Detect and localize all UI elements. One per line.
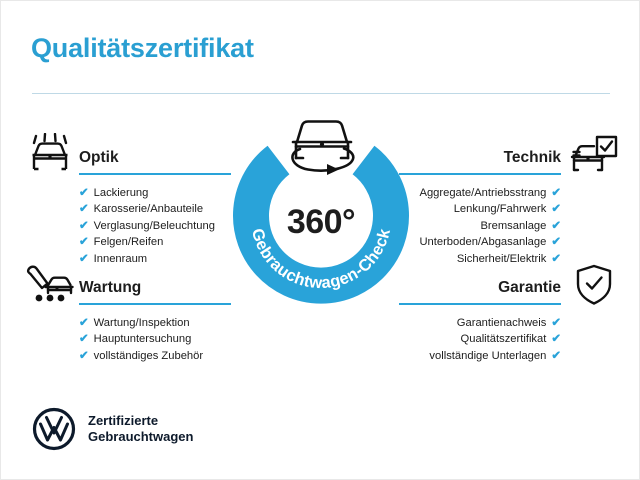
car-shine-icon bbox=[25, 133, 75, 182]
list-item-label: vollständige Unterlagen bbox=[429, 348, 546, 364]
vw-brand-block: Zertifizierte Gebrauchtwagen bbox=[32, 407, 193, 451]
check-icon: ✔ bbox=[79, 234, 89, 250]
list-item-label: Verglasung/Beleuchtung bbox=[94, 218, 215, 234]
car-rotation-icon bbox=[280, 111, 364, 188]
list-item-label: Lenkung/Fahrwerk bbox=[454, 201, 547, 217]
360-badge: Gebrauchtwagen-Check 360 bbox=[222, 119, 420, 317]
check-icon: ✔ bbox=[551, 201, 561, 217]
list-item-label: Bremsanlage bbox=[480, 218, 546, 234]
check-icon: ✔ bbox=[79, 251, 89, 267]
list-item-label: Wartung/Inspektion bbox=[94, 315, 190, 331]
check-icon: ✔ bbox=[551, 251, 561, 267]
section-garantie-divider bbox=[399, 303, 561, 305]
section-wartung-divider bbox=[79, 303, 231, 305]
list-item: Qualitätszertifikat✔ bbox=[381, 331, 561, 347]
check-icon: ✔ bbox=[551, 234, 561, 250]
page-title: Qualitätszertifikat bbox=[31, 33, 254, 64]
check-icon: ✔ bbox=[551, 315, 561, 331]
certificate-page: Qualitätszertifikat Optik ✔Lackierung ✔K… bbox=[0, 0, 640, 480]
vw-brand-line1: Zertifizierte bbox=[88, 413, 193, 429]
list-item-label: Unterboden/Abgasanlage bbox=[419, 234, 546, 250]
check-icon: ✔ bbox=[79, 315, 89, 331]
section-wartung-title: Wartung bbox=[79, 279, 141, 297]
check-icon: ✔ bbox=[551, 218, 561, 234]
badge-center-label: 360° bbox=[222, 203, 420, 242]
list-item: vollständige Unterlagen✔ bbox=[381, 348, 561, 364]
check-icon: ✔ bbox=[79, 331, 89, 347]
check-icon: ✔ bbox=[79, 185, 89, 201]
section-garantie-title: Garantie bbox=[498, 279, 561, 297]
shield-check-icon bbox=[573, 263, 615, 312]
list-item-label: Innenraum bbox=[94, 251, 148, 267]
section-optik-divider bbox=[79, 173, 231, 175]
check-icon: ✔ bbox=[79, 218, 89, 234]
list-item: ✔Wartung/Inspektion bbox=[79, 315, 249, 331]
section-technik-title: Technik bbox=[504, 149, 561, 167]
check-icon: ✔ bbox=[79, 201, 89, 217]
list-item-label: Sicherheit/Elektrik bbox=[457, 251, 547, 267]
list-item-label: Karosserie/Anbauteile bbox=[94, 201, 203, 217]
car-checkbox-icon bbox=[567, 134, 619, 183]
vw-brand-text: Zertifizierte Gebrauchtwagen bbox=[88, 413, 193, 445]
list-item-label: Lackierung bbox=[94, 185, 149, 201]
check-icon: ✔ bbox=[551, 331, 561, 347]
title-divider bbox=[32, 93, 610, 94]
section-technik-divider bbox=[399, 173, 561, 175]
check-icon: ✔ bbox=[551, 185, 561, 201]
section-wartung-list: ✔Wartung/Inspektion ✔Hauptuntersuchung ✔… bbox=[79, 315, 249, 364]
list-item: Garantienachweis✔ bbox=[381, 315, 561, 331]
list-item-label: Qualitätszertifikat bbox=[461, 331, 547, 347]
car-lift-wrench-icon bbox=[25, 263, 77, 312]
list-item: ✔vollständiges Zubehör bbox=[79, 348, 249, 364]
list-item-label: Felgen/Reifen bbox=[94, 234, 164, 250]
section-optik-title: Optik bbox=[79, 149, 119, 167]
check-icon: ✔ bbox=[79, 348, 89, 364]
vw-brand-line2: Gebrauchtwagen bbox=[88, 429, 193, 445]
list-item-label: Garantienachweis bbox=[457, 315, 547, 331]
list-item-label: Aggregate/Antriebsstrang bbox=[419, 185, 546, 201]
section-garantie-list: Garantienachweis✔ Qualitätszertifikat✔ v… bbox=[381, 315, 561, 364]
list-item-label: vollständiges Zubehör bbox=[94, 348, 203, 364]
check-icon: ✔ bbox=[551, 348, 561, 364]
vw-logo bbox=[32, 407, 76, 451]
list-item: ✔Hauptuntersuchung bbox=[79, 331, 249, 347]
list-item-label: Hauptuntersuchung bbox=[94, 331, 192, 347]
